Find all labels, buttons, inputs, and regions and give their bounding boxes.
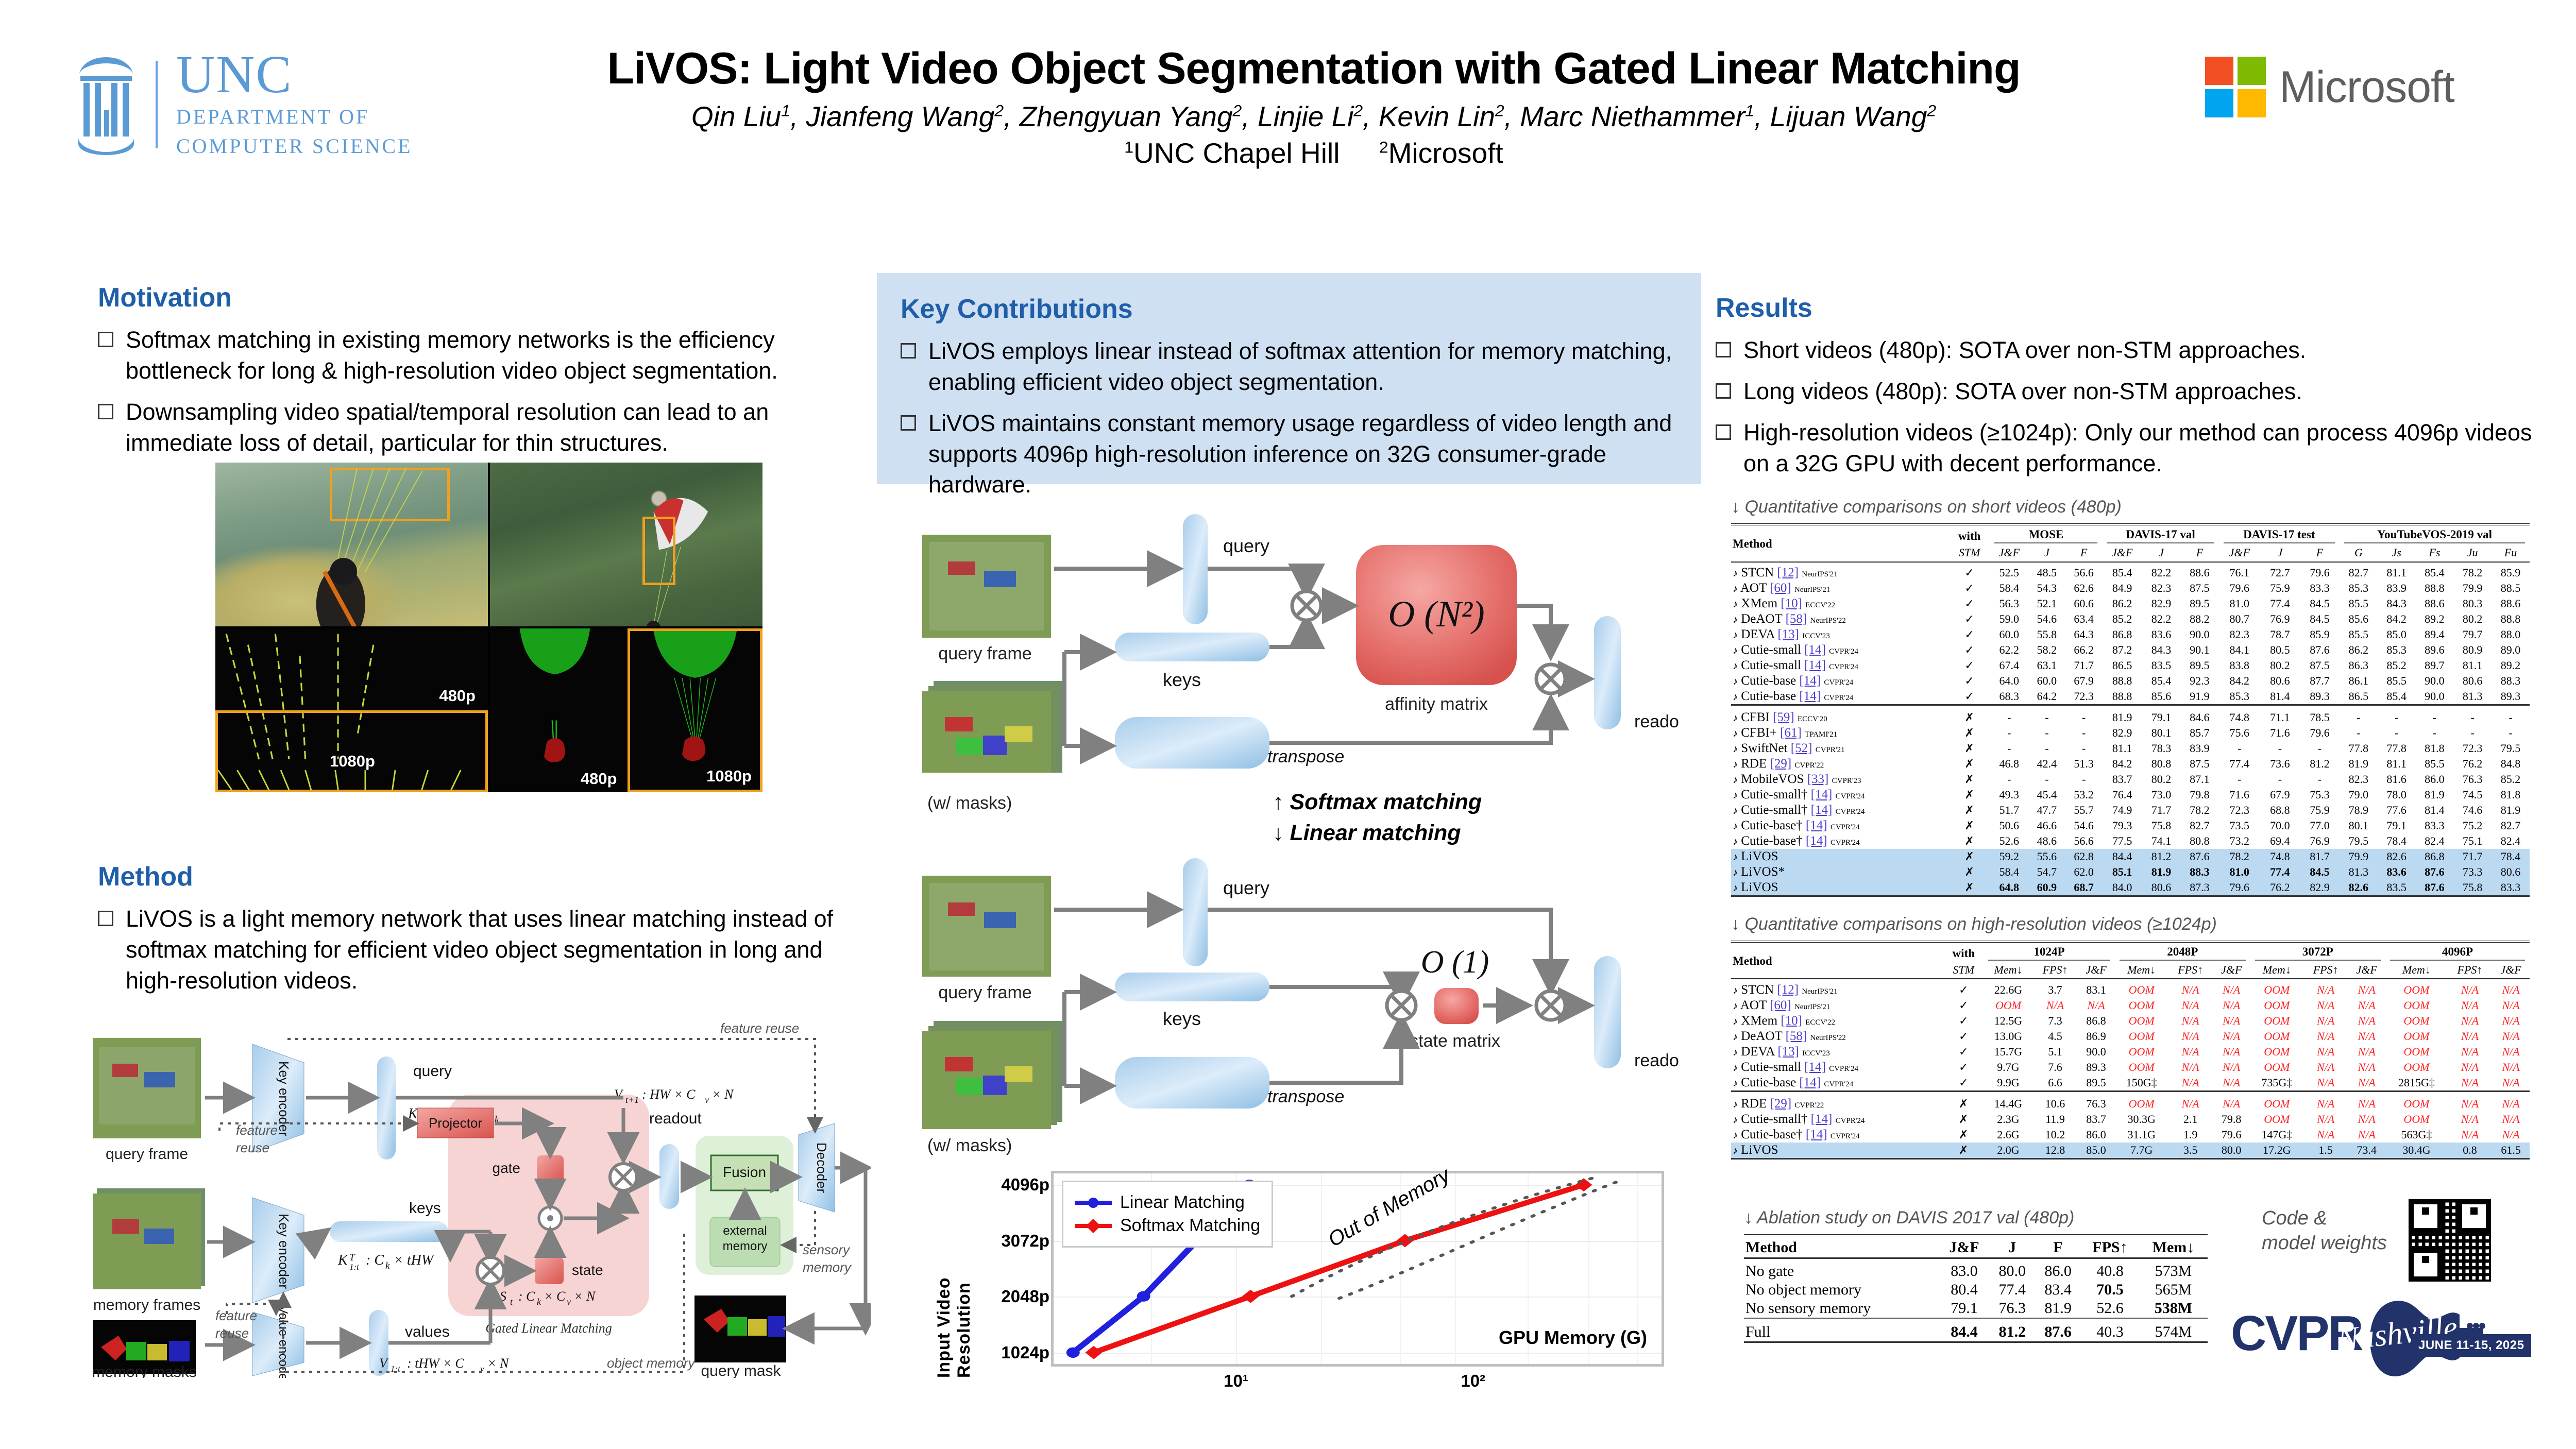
cell-method: ♪ Cutie-base† [14] CVPR'24 xyxy=(1731,818,1949,833)
citation-ref[interactable]: [14] xyxy=(1804,1060,1826,1074)
cell-value: 83.4 xyxy=(2035,1281,2081,1299)
cell-value: 48.5 xyxy=(2028,565,2065,581)
microsoft-logo: Microsoft xyxy=(2205,57,2454,117)
cell-value: 73.5 xyxy=(2219,818,2260,833)
citation-ref[interactable]: [58] xyxy=(1786,612,1807,626)
cell-value: 52.5 xyxy=(1990,565,2028,581)
svg-text:K: K xyxy=(337,1252,348,1268)
cell-value: 79.7 xyxy=(2453,627,2492,642)
cell-method: ♪ Cutie-base† [14] CVPR'24 xyxy=(1731,833,1949,849)
table-row: ♪ RDE [29] CVPR'22✗46.842.451.384.280.88… xyxy=(1731,756,2530,772)
cell-value: 54.6 xyxy=(2065,818,2103,833)
rule-pre-full xyxy=(1744,1318,2208,1323)
cell-value: OOM xyxy=(2115,1044,2168,1060)
cell-value: N/A xyxy=(2492,1044,2530,1060)
cell-value: 80.3 xyxy=(2453,596,2492,611)
cell-value: 11.9 xyxy=(2033,1112,2077,1127)
cell-value: 79.0 xyxy=(2340,787,2378,803)
cell-value: 2.6G xyxy=(1984,1127,2033,1143)
cell-method: ♪ STCN [12] NeurIPS'21 xyxy=(1731,565,1949,581)
legend-label-softmax: Softmax Matching xyxy=(1120,1216,1260,1236)
cell-value: 61.5 xyxy=(2492,1143,2530,1159)
citation-ref[interactable]: [10] xyxy=(1781,1014,1802,1028)
cell-value: N/A xyxy=(2448,1127,2492,1143)
cell-value: 573M xyxy=(2139,1262,2208,1281)
citation-ref[interactable]: [58] xyxy=(1786,1029,1807,1043)
cell-value: N/A xyxy=(2303,998,2348,1013)
cell-value: 67.9 xyxy=(2065,673,2103,689)
figure-cell-paraglider-ground xyxy=(215,463,488,626)
cell-value: 6.6 xyxy=(2033,1075,2077,1092)
unc-line-3: COMPUTER SCIENCE xyxy=(176,134,413,159)
cell-value: 80.6 xyxy=(2142,880,2180,896)
unc-line-1: UNC xyxy=(176,49,413,100)
cell-value: 52.1 xyxy=(2028,596,2065,611)
author-2: Zhengyuan Yang2 xyxy=(1020,100,1242,132)
cell-value: 46.6 xyxy=(2028,818,2065,833)
cell-value: 83.1 xyxy=(2077,982,2115,998)
cell-value: 81.1 xyxy=(2453,658,2492,673)
svg-text:Key encoder: Key encoder xyxy=(276,1061,292,1136)
cell-value: - xyxy=(2378,725,2416,741)
cell-value: 62.8 xyxy=(2065,849,2103,864)
cell-value: 84.5 xyxy=(2300,611,2340,627)
cell-value: 83.8 xyxy=(2219,658,2260,673)
cell-value: 87.3 xyxy=(2180,880,2218,896)
rule-bottom xyxy=(1731,896,2530,899)
col-1-2: F xyxy=(2180,545,2218,562)
col-2-1: J xyxy=(2260,545,2300,562)
citation-ref[interactable]: [12] xyxy=(1777,983,1799,997)
citation-ref[interactable]: [33] xyxy=(1807,772,1829,786)
cell-method: ♪ Cutie-small† [14] CVPR'24 xyxy=(1731,1112,1943,1127)
svg-text:v: v xyxy=(705,1095,709,1105)
key-contributions-bullets: LiVOS employs linear instead of softmax … xyxy=(901,336,1677,500)
cell-value: - xyxy=(2453,710,2492,725)
cell-value: 76.4 xyxy=(2102,787,2142,803)
cell-value: 81.1 xyxy=(2378,756,2416,772)
citation-ref[interactable]: [61] xyxy=(1780,726,1802,740)
memory-frames-sublabel-2: (w/ masks) xyxy=(927,1136,1012,1156)
cell-value: N/A xyxy=(2213,1096,2250,1112)
citation-ref[interactable]: [60] xyxy=(1770,998,1791,1012)
cell-value: - xyxy=(2453,725,2492,741)
cell-value: 89.5 xyxy=(2180,658,2218,673)
cell-value: 54.3 xyxy=(2028,581,2065,596)
cell-value: - xyxy=(2028,741,2065,756)
table-short-videos-wrapper: ↓ Quantitative comparisons on short vide… xyxy=(1731,497,2530,899)
cell-value: 56.6 xyxy=(2065,833,2103,849)
cell-value: 88.3 xyxy=(2180,864,2218,880)
svg-text:k: k xyxy=(385,1260,390,1271)
cell-value: N/A xyxy=(2213,982,2250,998)
list-item: Short videos (480p): SOTA over non-STM a… xyxy=(1716,335,2540,366)
cell-stm: ✓ xyxy=(1949,658,1990,673)
col-stm-top: with xyxy=(1943,945,1984,963)
cell-value: 85.6 xyxy=(2142,689,2180,705)
cell-value: N/A xyxy=(2303,1060,2348,1075)
cell-value: 40.8 xyxy=(2081,1262,2139,1281)
cell-value: 69.4 xyxy=(2260,833,2300,849)
cell-value: 84.2 xyxy=(2219,673,2260,689)
svg-text:k: k xyxy=(537,1297,541,1307)
cell-value: OOM xyxy=(2250,998,2304,1013)
cell-value: 87.5 xyxy=(2300,658,2340,673)
cell-method: ♪ Cutie-base [14] CVPR'24 xyxy=(1731,673,1949,689)
cell-method: ♪ Cutie-base [14] CVPR'24 xyxy=(1731,1075,1943,1092)
legend-item-softmax: Softmax Matching xyxy=(1075,1216,1260,1236)
cell-value: 52.6 xyxy=(2081,1299,2139,1318)
cell-value: 83.3 xyxy=(2416,818,2454,833)
cell-value: 81.9 xyxy=(2102,710,2142,725)
cell-value: 85.0 xyxy=(2378,627,2416,642)
col-group-2: 3072P xyxy=(2250,945,2386,963)
cell-value: 15.7G xyxy=(1984,1044,2033,1060)
cell-value: 81.0 xyxy=(2219,596,2260,611)
cell-value: 2.1 xyxy=(2168,1112,2212,1127)
cell-value: 86.2 xyxy=(2340,642,2378,658)
svg-text:readout: readout xyxy=(1634,712,1680,731)
cell-stm: ✗ xyxy=(1943,1112,1984,1127)
cell-value: 68.7 xyxy=(2065,880,2103,896)
cell-value: OOM xyxy=(2385,1044,2448,1060)
cell-value: 90.1 xyxy=(2180,642,2218,658)
cell-value: 81.3 xyxy=(2453,689,2492,705)
method-section: Method LiVOS is a light memory network t… xyxy=(98,861,871,1007)
citation-ref[interactable]: [14] xyxy=(1799,674,1821,688)
table-row: ♪ RDE [29] CVPR'22✗14.4G10.676.3OOMN/AN/… xyxy=(1731,1096,2530,1112)
affiliation-0: 1UNC Chapel Hill xyxy=(1124,137,1340,169)
cell-value: 87.6 xyxy=(2300,642,2340,658)
cell-value: 85.4 xyxy=(2142,673,2180,689)
cell-value: 67.9 xyxy=(2260,787,2300,803)
cell-value: 2.3G xyxy=(1984,1112,2033,1127)
cell-value: 89.2 xyxy=(2492,658,2530,673)
softmax-direction-note: ↑ Softmax matching xyxy=(1273,787,1482,817)
citation-ref[interactable]: [14] xyxy=(1811,803,1833,817)
cell-value: 88.5 xyxy=(2492,581,2530,596)
cell-value: 82.2 xyxy=(2142,565,2180,581)
cell-value: N/A xyxy=(2303,1044,2348,1060)
cell-value: 88.6 xyxy=(2180,565,2218,581)
cell-value: 30.3G xyxy=(2115,1112,2168,1127)
table-row: ♪ Cutie-small [14] CVPR'24✓67.463.171.78… xyxy=(1731,658,2530,673)
svg-text:transpose: transpose xyxy=(1267,747,1344,766)
table-row: ♪ LiVOS✗2.0G12.885.07.7G3.580.017.2G1.57… xyxy=(1731,1143,2530,1159)
cell-stm: ✗ xyxy=(1949,833,1990,849)
cell-value: 85.5 xyxy=(2378,673,2416,689)
cell-value: - xyxy=(1990,725,2028,741)
cell-value: 81.7 xyxy=(2300,849,2340,864)
rule-mid xyxy=(1731,705,2530,710)
cell-value: 55.8 xyxy=(2028,627,2065,642)
cell-stm: ✓ xyxy=(1949,581,1990,596)
svg-text:: C: : C xyxy=(518,1289,535,1304)
cell-value: 67.4 xyxy=(1990,658,2028,673)
cell-value: 79.5 xyxy=(2492,741,2530,756)
memory-frames-sublabel: (w/ masks) xyxy=(927,793,1012,813)
unc-seal-icon xyxy=(72,53,140,156)
cell-value: N/A xyxy=(2077,998,2115,1013)
cell-value: 83.3 xyxy=(2300,581,2340,596)
microsoft-wordmark: Microsoft xyxy=(2279,62,2454,113)
cell-value: 89.4 xyxy=(2416,627,2454,642)
table-row: ♪ LiVOS✗64.860.968.784.080.687.379.676.2… xyxy=(1731,880,2530,896)
cell-value: 56.6 xyxy=(2065,565,2103,581)
cell-stm: ✗ xyxy=(1949,803,1990,818)
cell-value: 86.1 xyxy=(2340,673,2378,689)
cell-value: 63.4 xyxy=(2065,611,2103,627)
svg-text:Projector: Projector xyxy=(429,1115,482,1131)
cell-value: 62.2 xyxy=(1990,642,2028,658)
cell-value: 59.2 xyxy=(1990,849,2028,864)
cell-value: 30.4G xyxy=(2385,1143,2448,1159)
cell-value: OOM xyxy=(2250,1112,2304,1127)
cell-method: ♪ LiVOS* xyxy=(1731,864,1949,880)
linear-matching-diagram: query frame memory frames query keys tra… xyxy=(907,855,1680,1133)
cell-value: 82.4 xyxy=(2492,833,2530,849)
citation-ref[interactable]: [59] xyxy=(1773,710,1794,724)
cell-value: 79.1 xyxy=(2378,818,2416,833)
cell-value: 80.0 xyxy=(2213,1143,2250,1159)
chart-xtick-1: 10² xyxy=(1461,1371,1485,1391)
cell-value: 89.7 xyxy=(2416,658,2454,673)
cell-value: 82.9 xyxy=(2142,596,2180,611)
cell-value: 85.3 xyxy=(2219,689,2260,705)
citation-ref[interactable]: [14] xyxy=(1806,1128,1827,1141)
cell-value: 81.1 xyxy=(2102,741,2142,756)
cell-value: 71.6 xyxy=(2219,787,2260,803)
col-group-0: MOSE xyxy=(1990,527,2102,545)
cell-value: 76.2 xyxy=(2260,880,2300,896)
cell-value: N/A xyxy=(2492,1075,2530,1092)
cell-value: 83.7 xyxy=(2102,772,2142,787)
cell-stm: ✓ xyxy=(1943,1075,1984,1092)
cell-stm: ✓ xyxy=(1943,998,1984,1013)
cell-value: N/A xyxy=(2168,982,2212,998)
cell-value: 81.4 xyxy=(2260,689,2300,705)
cell-stm: ✗ xyxy=(1949,756,1990,772)
figure-cell-paraglider-air xyxy=(490,463,762,626)
cell-value: - xyxy=(2028,710,2065,725)
citation-ref[interactable]: [14] xyxy=(1811,1112,1833,1126)
cell-value: 80.1 xyxy=(2142,725,2180,741)
cell-value: - xyxy=(1990,741,2028,756)
cell-value: 80.6 xyxy=(2492,864,2530,880)
svg-text:Decoder: Decoder xyxy=(814,1143,829,1194)
cell-value: 84.4 xyxy=(2102,849,2142,864)
affiliation-1: 2Microsoft xyxy=(1379,137,1503,169)
cell-stm: ✗ xyxy=(1943,1127,1984,1143)
col-stm-bottom: STM xyxy=(1949,545,1990,562)
cell-value: 77.6 xyxy=(2378,803,2416,818)
cell-value: 84.2 xyxy=(2378,611,2416,627)
cell-value: N/A xyxy=(2213,1075,2250,1092)
cell-value: 538M xyxy=(2139,1299,2208,1318)
citation-ref[interactable]: [14] xyxy=(1799,689,1821,703)
cell-value: 80.2 xyxy=(2142,772,2180,787)
cell-value: 86.5 xyxy=(2340,689,2378,705)
cell-method: ♪ DEVA [13] ICCV'23 xyxy=(1731,627,1949,642)
cell-value: 565M xyxy=(2139,1281,2208,1299)
cell-value: 14.4G xyxy=(1984,1096,2033,1112)
table-highres-caption: ↓ Quantitative comparisons on high-resol… xyxy=(1731,914,2530,934)
qr-code[interactable] xyxy=(2409,1199,2491,1282)
microsoft-squares-icon xyxy=(2205,57,2266,117)
list-item: LiVOS employs linear instead of softmax … xyxy=(901,336,1677,398)
col-0-1: J xyxy=(2028,545,2065,562)
cell-value: 74.9 xyxy=(2102,803,2142,818)
cell-value: 59.0 xyxy=(1990,611,2028,627)
table-row: ♪ DEVA [13] ICCV'23✓60.055.864.386.883.6… xyxy=(1731,627,2530,642)
cell-value: 76.9 xyxy=(2300,833,2340,849)
col-5: Mem↓ xyxy=(2139,1238,2208,1258)
cell-value: 88.0 xyxy=(2492,627,2530,642)
col-1-1: FPS↑ xyxy=(2168,963,2212,979)
cell-value: 79.3 xyxy=(2102,818,2142,833)
cell-value: 75.3 xyxy=(2300,787,2340,803)
cell-value: 86.5 xyxy=(2102,658,2142,673)
cell-value: 80.9 xyxy=(2453,642,2492,658)
cell-value: 88.8 xyxy=(2102,673,2142,689)
cell-value: 80.8 xyxy=(2180,833,2218,849)
citation-ref[interactable]: [14] xyxy=(1799,1076,1821,1089)
cell-value: 68.3 xyxy=(1990,689,2028,705)
col-1-2: J&F xyxy=(2213,963,2250,979)
cell-value: N/A xyxy=(2492,998,2530,1013)
table-row: No sensory memory79.176.381.952.6538M xyxy=(1744,1299,2208,1318)
cell-value: 80.7 xyxy=(2219,611,2260,627)
author-list: Qin Liu1, Jianfeng Wang2, Zhengyuan Yang… xyxy=(453,100,2174,133)
figure-label-480p-2: 480p xyxy=(581,770,617,788)
citation-ref[interactable]: [12] xyxy=(1777,566,1799,579)
cell-value: 85.3 xyxy=(2340,581,2378,596)
cell-value: 85.5 xyxy=(2340,596,2378,611)
col-3-0: Mem↓ xyxy=(2385,963,2448,979)
table-highres-wrapper: ↓ Quantitative comparisons on high-resol… xyxy=(1731,914,2530,1162)
cell-method: ♪ RDE [29] CVPR'22 xyxy=(1731,756,1949,772)
citation-ref[interactable]: [29] xyxy=(1770,757,1792,771)
cell-value: 51.3 xyxy=(2065,756,2103,772)
cell-value: 81.2 xyxy=(2142,849,2180,864)
cell-value: 88.2 xyxy=(2180,611,2218,627)
bullet-square-icon xyxy=(901,415,916,431)
citation-ref[interactable]: [13] xyxy=(1777,1045,1799,1059)
key-contributions-title: Key Contributions xyxy=(901,294,1677,325)
cell-value: 78.4 xyxy=(2492,849,2530,864)
list-item: Downsampling video spatial/temporal reso… xyxy=(98,397,871,458)
svg-text:reuse: reuse xyxy=(236,1140,269,1155)
cell-value: 82.6 xyxy=(2340,880,2378,896)
cell-value: 84.8 xyxy=(2492,756,2530,772)
cell-stm: ✗ xyxy=(1949,741,1990,756)
cell-value: 1.5 xyxy=(2303,1143,2348,1159)
citation-ref[interactable]: [14] xyxy=(1804,643,1826,657)
table-row: ♪ AOT [60] NeurIPS'21✓58.454.362.684.982… xyxy=(1731,581,2530,596)
cell-value: 73.3 xyxy=(2453,864,2492,880)
cell-value: N/A xyxy=(2168,998,2212,1013)
author-6: Lijuan Wang2 xyxy=(1770,100,1937,132)
cell-value: 60.9 xyxy=(2028,880,2065,896)
citation-ref[interactable]: [60] xyxy=(1770,581,1791,595)
svg-text:transpose: transpose xyxy=(1267,1087,1344,1106)
cell-value: 84.4 xyxy=(1939,1323,1990,1342)
cell-value: 89.5 xyxy=(2180,596,2218,611)
col-group-2: DAVIS-17 test xyxy=(2219,527,2340,545)
results-title: Results xyxy=(1716,293,2540,323)
figure-cell-seg-compare: 480p 1080p xyxy=(490,628,762,792)
poster-header: UNC DEPARTMENT OF COMPUTER SCIENCE LiVOS… xyxy=(0,0,2576,227)
cell-value: N/A xyxy=(2492,1112,2530,1127)
citation-ref[interactable]: [14] xyxy=(1806,819,1827,832)
col-1: J&F xyxy=(1939,1238,1990,1258)
cell-value: 80.8 xyxy=(2142,756,2180,772)
citation-ref[interactable]: [14] xyxy=(1811,788,1833,802)
cell-value: - xyxy=(2065,772,2103,787)
code-and-logo-block: Code & model weights CVPR Nashville JUNE… xyxy=(2262,1200,2530,1417)
col-3-1: FPS↑ xyxy=(2448,963,2492,979)
cell-method: ♪ CFBI [59] ECCV'20 xyxy=(1731,710,1949,725)
cell-value: - xyxy=(2028,772,2065,787)
rule-bottom xyxy=(1731,1159,2530,1162)
cell-value: N/A xyxy=(2492,1127,2530,1143)
cell-value: 86.0 xyxy=(2035,1262,2081,1281)
cell-value: - xyxy=(2260,772,2300,787)
cell-value: 82.3 xyxy=(2340,772,2378,787)
table-row: ♪ XMem [10] ECCV'22✓12.5G7.386.8OOMN/AN/… xyxy=(1731,1013,2530,1029)
list-item: LiVOS maintains constant memory usage re… xyxy=(901,408,1677,501)
svg-text:: tHW × C: : tHW × C xyxy=(407,1356,464,1371)
cell-value: - xyxy=(2378,710,2416,725)
col-method: Method xyxy=(1731,527,1949,562)
table-row: ♪ MobileVOS [33] CVPR'23✗---83.780.287.1… xyxy=(1731,772,2530,787)
table-short-caption: ↓ Quantitative comparisons on short vide… xyxy=(1731,497,2530,517)
cell-value: 87.5 xyxy=(2180,581,2218,596)
citation-ref[interactable]: [14] xyxy=(1804,658,1826,672)
citation-ref[interactable]: [14] xyxy=(1806,834,1827,848)
citation-ref[interactable]: [29] xyxy=(1770,1097,1792,1111)
cell-value: 85.6 xyxy=(2340,611,2378,627)
cell-value: 76.2 xyxy=(2453,756,2492,772)
code-label-line2: model weights xyxy=(2262,1231,2387,1256)
citation-ref[interactable]: [10] xyxy=(1781,596,1802,610)
cell-value: 83.3 xyxy=(2492,880,2530,896)
cell-value: N/A xyxy=(2448,982,2492,998)
cell-value: 89.5 xyxy=(2077,1075,2115,1092)
svg-text:query mask: query mask xyxy=(701,1362,781,1378)
cell-stm: ✓ xyxy=(1943,1044,1984,1060)
cell-value: 71.7 xyxy=(2453,849,2492,864)
citation-ref[interactable]: [13] xyxy=(1777,627,1799,641)
table-row: ♪ LiVOS✗59.255.662.884.481.287.678.274.8… xyxy=(1731,849,2530,864)
rule-bottom xyxy=(1744,1342,2208,1345)
cell-value: 86.0 xyxy=(2077,1127,2115,1143)
cell-value: OOM xyxy=(2385,982,2448,998)
cell-value: N/A xyxy=(2303,1013,2348,1029)
cell-value: 81.8 xyxy=(2416,741,2454,756)
method-architecture-figure: Gated Linear Matching query frame memory… xyxy=(88,1007,871,1378)
cell-value: 73.6 xyxy=(2260,756,2300,772)
cell-value: 84.6 xyxy=(2180,710,2218,725)
cell-value: 78.2 xyxy=(2180,803,2218,818)
cell-value: 73.4 xyxy=(2348,1143,2385,1159)
code-label: Code & model weights xyxy=(2262,1206,2387,1255)
cell-value: N/A xyxy=(2348,1096,2385,1112)
cell-value: 81.3 xyxy=(2340,864,2378,880)
cell-value: 81.9 xyxy=(2416,787,2454,803)
citation-ref[interactable]: [52] xyxy=(1791,741,1812,755)
col-0-0: J&F xyxy=(1990,545,2028,562)
